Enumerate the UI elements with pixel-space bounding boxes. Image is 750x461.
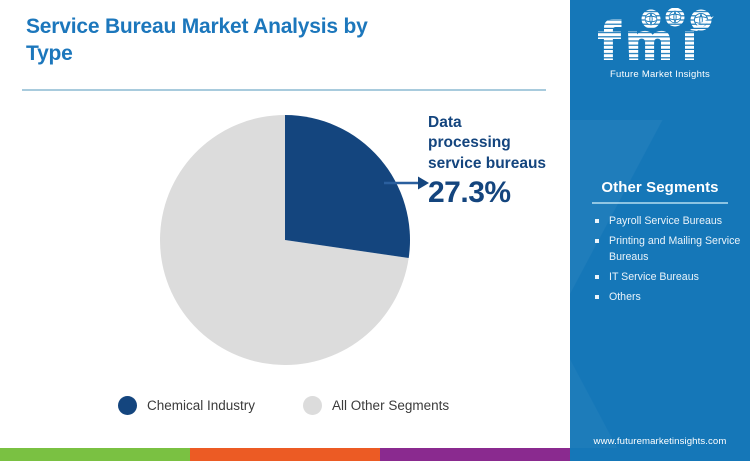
bullet-icon [595, 295, 599, 299]
callout-label-line3: service bureaus [428, 154, 568, 174]
other-segments-list-item: Printing and Mailing Service Bureaus [594, 234, 744, 265]
bottom-bar-segment-blue [570, 448, 750, 461]
arrow-right-icon [382, 168, 430, 198]
other-segments-list-item-label: Others [609, 291, 641, 303]
other-segments-list: Payroll Service BureausPrinting and Mail… [594, 214, 744, 311]
legend-label: All Other Segments [332, 398, 449, 413]
other-segments-heading: Other Segments [570, 179, 750, 196]
legend-item-chemical-industry[interactable]: Chemical Industry [118, 396, 255, 415]
brand-logo[interactable]: Future Market Insights [570, 8, 750, 80]
other-segments-list-item-label: IT Service Bureaus [609, 271, 699, 283]
other-segments-list-item: Payroll Service Bureaus [594, 214, 744, 229]
site-url[interactable]: www.futuremarketinsights.com [570, 436, 750, 447]
other-segments-list-item-label: Printing and Mailing Service Bureaus [609, 235, 740, 262]
other-segments-list-item-label: Payroll Service Bureaus [609, 215, 722, 227]
legend-item-all-other-segments[interactable]: All Other Segments [303, 396, 449, 415]
bottom-bar-segment-orange [190, 448, 380, 461]
callout-annotation: Data processing service bureaus 27.3% [428, 113, 568, 210]
other-segments-list-item: IT Service Bureaus [594, 270, 744, 285]
fmi-logo-icon [594, 8, 726, 66]
bullet-icon [595, 239, 599, 243]
other-segments-list-item: Others [594, 290, 744, 305]
callout-value: 27.3% [428, 176, 568, 210]
page-title: Service Bureau Market Analysis by Type [26, 14, 406, 68]
bottom-bar-segment-purple [380, 448, 570, 461]
bottom-bar-segment-green [0, 448, 190, 461]
bottom-color-bar [0, 448, 750, 461]
left-content-panel: Service Bureau Market Analysis by Type D… [0, 0, 570, 448]
legend-label: Chemical Industry [147, 398, 255, 413]
other-segments-underline [592, 202, 728, 204]
legend-swatch-icon [303, 396, 322, 415]
brand-sidebar: Future Market Insights Other Segments Pa… [570, 0, 750, 461]
bullet-icon [595, 275, 599, 279]
pie-chart-container [160, 115, 410, 365]
title-divider [22, 89, 546, 91]
pie-chart [160, 115, 410, 365]
chart-legend: Chemical Industry All Other Segments [118, 396, 449, 415]
callout-label-line2: processing [428, 133, 568, 153]
bullet-icon [595, 219, 599, 223]
legend-swatch-icon [118, 396, 137, 415]
callout-label-line1: Data [428, 113, 568, 133]
brand-tagline: Future Market Insights [570, 69, 750, 80]
